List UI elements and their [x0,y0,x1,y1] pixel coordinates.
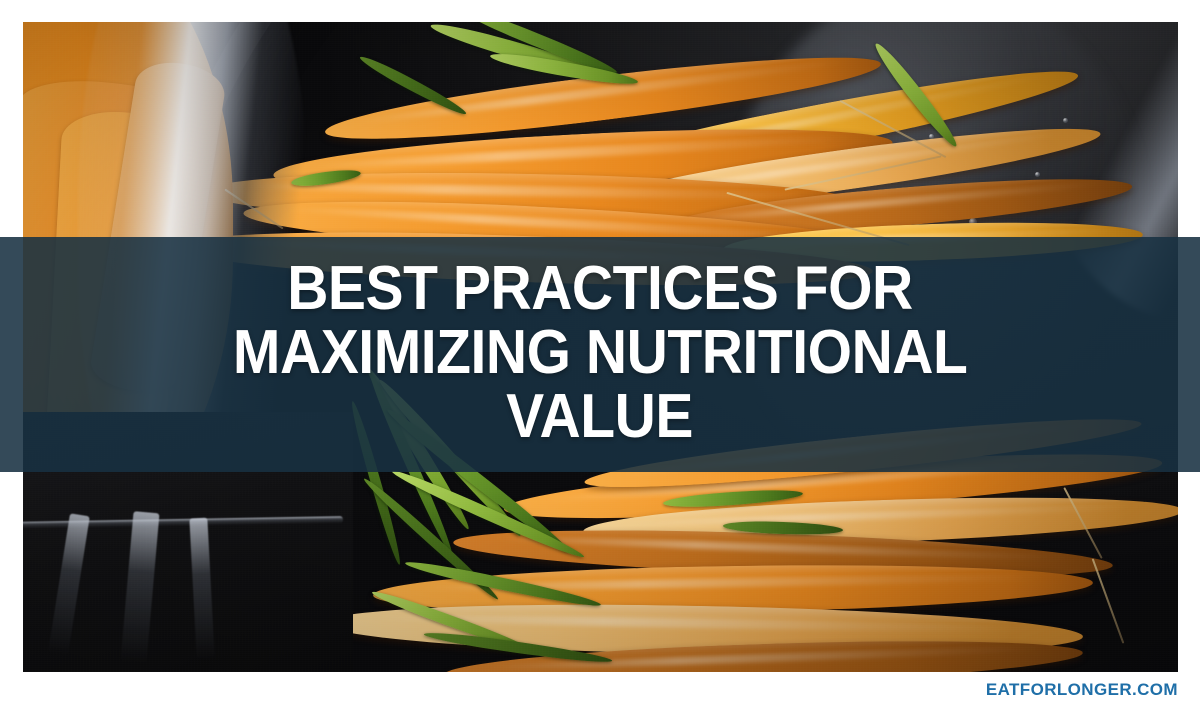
water-droplet [1063,118,1068,123]
title-line-3: VALUE [507,385,694,449]
title-banner: BEST PRACTICES FOR MAXIMIZING NUTRITIONA… [0,237,1200,472]
featured-image-canvas: BEST PRACTICES FOR MAXIMIZING NUTRITIONA… [0,0,1200,710]
title-line-1: BEST PRACTICES FOR [287,257,913,321]
water-droplet [1035,172,1040,177]
title-line-2: MAXIMIZING NUTRITIONAL [233,321,968,385]
site-watermark: EATFORLONGER.COM [986,680,1178,700]
